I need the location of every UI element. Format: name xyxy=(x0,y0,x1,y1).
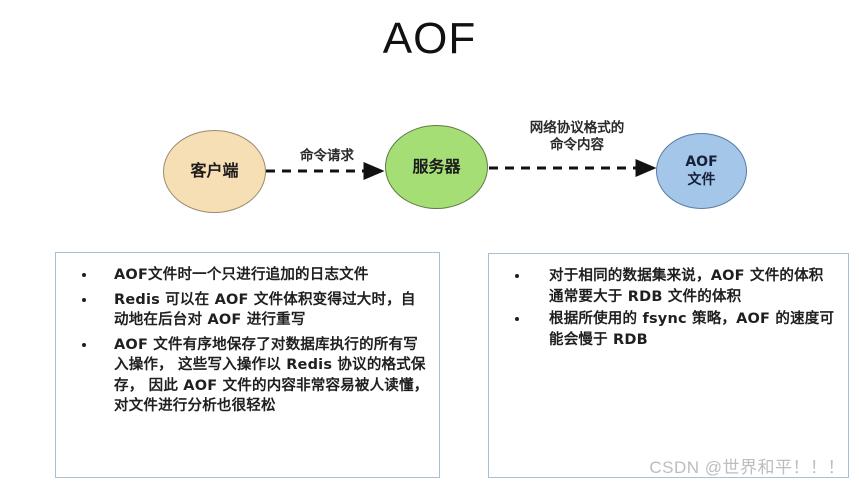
node-server[interactable]: 服务器 xyxy=(385,125,488,209)
disadvantages-list: 对于相同的数据集来说，AOF 文件的体积通常要大于 RDB 文件的体积 根据所使… xyxy=(489,254,848,350)
advantages-list: AOF文件时一个只进行追加的日志文件 Redis 可以在 AOF 文件体积变得过… xyxy=(56,253,439,417)
node-client[interactable]: 客户端 xyxy=(163,130,266,213)
node-server-label: 服务器 xyxy=(412,158,460,176)
list-item: AOF文件时一个只进行追加的日志文件 xyxy=(66,265,429,286)
diagram-canvas: AOF 客户端 服务器 AOF 文件 命令请求 网络协议格式的 命令内容 xyxy=(0,0,859,486)
page-title: AOF xyxy=(0,14,859,64)
node-aof-file[interactable]: AOF 文件 xyxy=(656,133,747,209)
list-item: Redis 可以在 AOF 文件体积变得过大时，自动地在后台对 AOF 进行重写 xyxy=(66,290,429,331)
disadvantages-box: 对于相同的数据集来说，AOF 文件的体积通常要大于 RDB 文件的体积 根据所使… xyxy=(488,253,849,478)
flow-diagram: 客户端 服务器 AOF 文件 命令请求 网络协议格式的 命令内容 xyxy=(0,110,859,225)
watermark: CSDN @世界和平！！！ xyxy=(649,453,845,478)
node-aof-label-line2: 文件 xyxy=(685,172,717,188)
edge-label-protocol-content: 网络协议格式的 命令内容 xyxy=(492,120,662,154)
list-item: 对于相同的数据集来说，AOF 文件的体积通常要大于 RDB 文件的体积 xyxy=(499,266,838,307)
list-item: AOF 文件有序地保存了对数据库执行的所有写入操作， 这些写入操作以 Redis… xyxy=(66,335,429,417)
list-item: 根据所使用的 fsync 策略，AOF 的速度可能会慢于 RDB xyxy=(499,309,838,350)
edge-label-command-request: 命令请求 xyxy=(272,148,382,165)
advantages-box: AOF文件时一个只进行追加的日志文件 Redis 可以在 AOF 文件体积变得过… xyxy=(55,252,440,478)
node-aof-label-line1: AOF xyxy=(685,154,717,170)
node-client-label: 客户端 xyxy=(190,162,238,180)
